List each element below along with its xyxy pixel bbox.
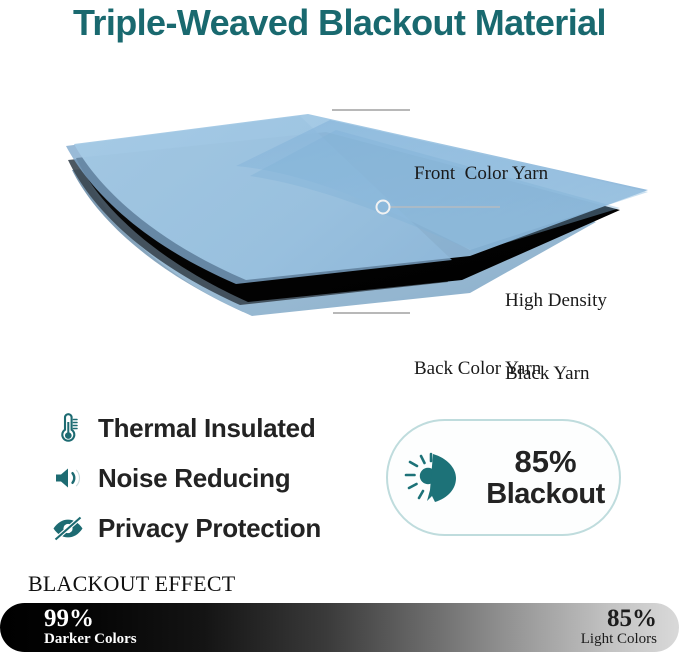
feature-label-thermal-insulated: Thermal Insulated — [98, 413, 315, 444]
feature-noise-reducing: Noise Reducing — [48, 456, 368, 500]
eye-slash-icon — [48, 509, 88, 547]
badge-word: Blackout — [480, 479, 611, 510]
thermometer-icon — [48, 409, 88, 447]
light-colors-note: Light Colors — [581, 632, 657, 648]
label-back-color-yarn: Back Color Yarn — [414, 357, 541, 381]
speaker-icon — [48, 459, 88, 497]
darker-colors-percent: 99% — [44, 606, 137, 632]
darker-colors-note: Darker Colors — [44, 632, 137, 648]
feature-thermal-insulated: Thermal Insulated — [48, 406, 368, 450]
blackout-effect-light-colors: 85% Light Colors — [581, 606, 657, 648]
feature-list: Thermal Insulated Noise Reducing Privacy… — [48, 406, 368, 556]
blackout-percentage-badge: 85% Blackout — [386, 419, 621, 536]
page-title: Triple-Weaved Blackout Material — [0, 2, 679, 44]
blackout-effect-darker-colors: 99% Darker Colors — [44, 606, 137, 648]
sun-behind-curtain-icon — [388, 446, 480, 510]
feature-privacy-protection: Privacy Protection — [48, 506, 368, 550]
fabric-layer-diagram: Front Color Yarn High Density Black Yarn… — [0, 60, 679, 350]
blackout-effect-heading: BLACKOUT EFFECT — [28, 571, 235, 597]
label-high-density-black-yarn: High Density Black Yarn — [505, 240, 607, 435]
badge-percent: 85% — [480, 445, 611, 478]
label-front-color-yarn: Front Color Yarn — [414, 162, 548, 186]
feature-label-noise-reducing: Noise Reducing — [98, 463, 290, 494]
badge-text: 85% Blackout — [480, 445, 619, 510]
feature-label-privacy-protection: Privacy Protection — [98, 513, 321, 544]
light-colors-percent: 85% — [581, 606, 657, 632]
label-black-line-1: High Density — [505, 289, 607, 313]
